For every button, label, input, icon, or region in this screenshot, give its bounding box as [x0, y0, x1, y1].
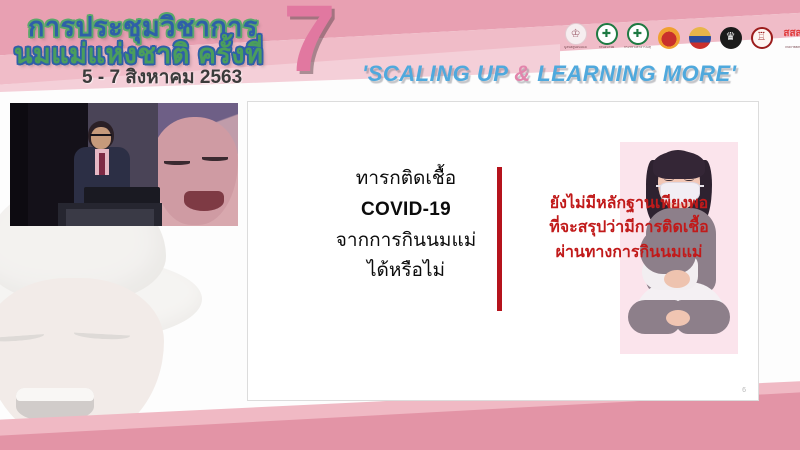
video-projected-baby-photo	[158, 103, 238, 226]
video-baby-eye-right	[202, 157, 228, 161]
logo-black-circle: ♛	[717, 27, 744, 50]
answer-line-2: ที่จะสรุปว่ามีการติดเชื้อ	[506, 216, 752, 240]
slide-answer-block: ยังไม่มีหลักฐานเพียงพอ ที่จะสรุปว่ามีการ…	[506, 192, 752, 265]
illustration-eye-left	[664, 177, 674, 181]
logo-thaihealth-caption: Thai Health	[779, 46, 800, 50]
logo-garuda-icon	[689, 27, 711, 49]
video-speaker-tie	[99, 153, 105, 175]
illustration-hair-front	[653, 151, 705, 179]
logo-thaihealth: สสส Thai Health	[779, 23, 800, 50]
slide-page-number: 6	[742, 387, 746, 394]
logo-garuda	[686, 27, 713, 50]
tagline-prefix: 'SCALING UP	[362, 61, 514, 86]
illustration-eye-right	[684, 177, 694, 181]
logo-ministry-health-2-caption: กระทรวงสาธารณสุข	[624, 46, 651, 50]
logo-ministry-health-1: ✚ กรมอนามัย	[593, 23, 620, 50]
logo-black-circle-icon: ♛	[720, 27, 742, 49]
video-baby-eye-left	[164, 161, 190, 165]
logo-red-crest-icon: ♖	[751, 27, 773, 49]
illustration-mother-hand	[664, 270, 690, 288]
logo-red-crest: ♖	[748, 27, 775, 50]
logo-emblem-red-icon	[658, 27, 680, 49]
logo-ministry-health-2: ✚ กระทรวงสาธารณสุข	[624, 23, 651, 50]
question-line-3: จากการกินนมแม่	[310, 226, 502, 257]
video-wall-left	[10, 103, 28, 226]
logo-thaihealth-icon: สสส	[782, 23, 800, 45]
presentation-broadcast-screen: การประชุมวิชาการ นมแม่แห่งชาติ ครั้งที่ …	[0, 0, 800, 450]
illustration-foot	[666, 310, 690, 326]
sponsor-logo-row: ♔ มูลนิธิศูนย์นมแม่ ✚ กรมอนามัย ✚ กระทรว…	[562, 23, 800, 50]
slide-question-block: ทารกติดเชื้อ COVID-19 จากการกินนมแม่ ได้…	[310, 164, 502, 287]
video-baby-mouth	[184, 191, 224, 211]
slide-vertical-divider	[497, 167, 502, 311]
logo-royal-seal-icon: ♔	[565, 23, 587, 45]
question-line-4: ได้หรือไม่	[310, 256, 502, 287]
presentation-slide[interactable]: ทารกติดเชื้อ COVID-19 จากการกินนมแม่ ได้…	[247, 101, 759, 401]
logo-royal-seal-caption: มูลนิธิศูนย์นมแม่	[562, 46, 589, 50]
conference-header: การประชุมวิชาการ นมแม่แห่งชาติ ครั้งที่ …	[0, 0, 800, 92]
logo-ministry-health-1-caption: กรมอนามัย	[593, 46, 620, 50]
logo-emblem-red	[655, 27, 682, 50]
question-line-1: ทารกติดเชื้อ	[310, 164, 502, 195]
logo-ministry-health-1-icon: ✚	[596, 23, 618, 45]
answer-line-1: ยังไม่มีหลักฐานเพียงพอ	[506, 192, 752, 216]
logo-royal-seal: ♔ มูลนิธิศูนย์นมแม่	[562, 23, 589, 50]
logo-ministry-health-2-icon: ✚	[627, 23, 649, 45]
conference-tagline: 'SCALING UP & LEARNING MORE'	[362, 61, 736, 87]
video-podium-front	[66, 209, 154, 226]
speaker-video-feed[interactable]	[10, 103, 238, 226]
watermark-teeth	[16, 388, 94, 401]
conference-edition-number: 7	[283, 0, 336, 87]
question-line-2: COVID-19	[310, 195, 502, 226]
tagline-ampersand: &	[514, 61, 530, 86]
conference-date: 5 - 7 สิงหาคม 2563	[82, 62, 242, 92]
video-speaker-glasses	[90, 134, 112, 139]
answer-line-3: ผ่านทางการกินนมแม่	[506, 241, 752, 265]
tagline-suffix: LEARNING MORE'	[531, 61, 737, 86]
